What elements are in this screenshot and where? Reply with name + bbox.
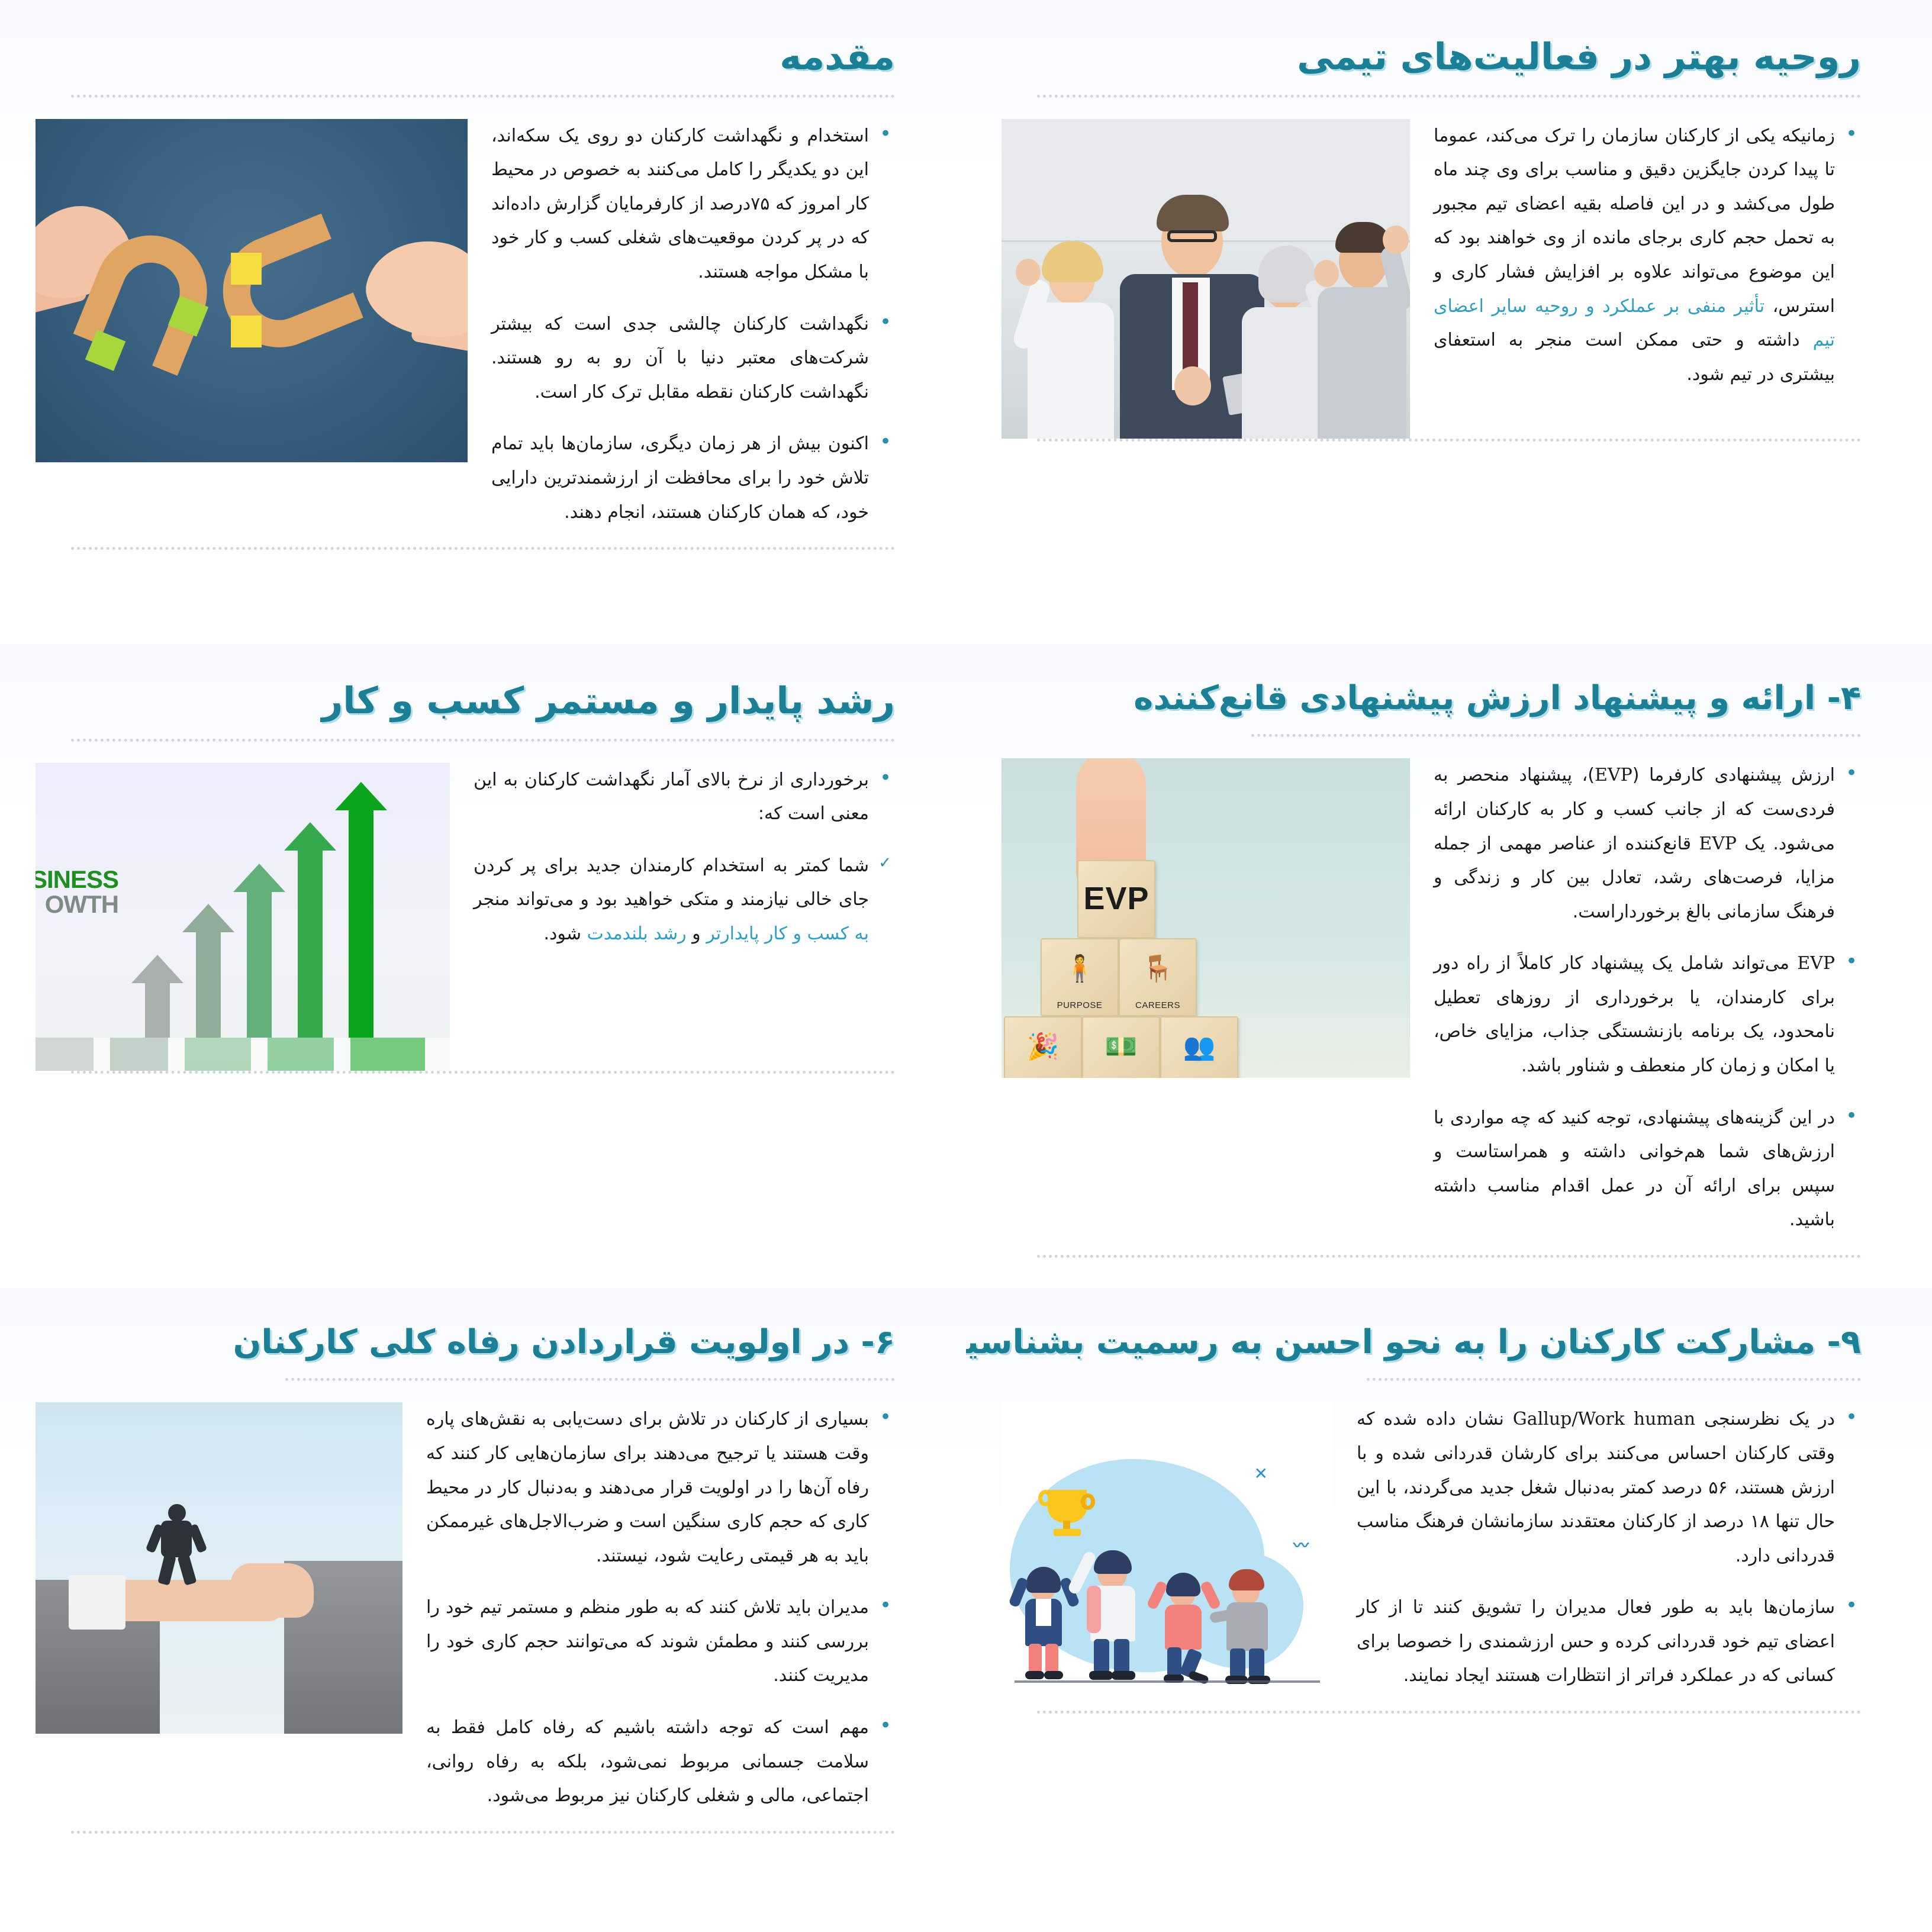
shirt-cuff [69, 1575, 125, 1630]
block-label: EVP [1078, 883, 1154, 915]
arrow-4 [284, 829, 336, 1038]
people-hands-icon: 👥 [1161, 1034, 1237, 1060]
growth-caption-line2: OWTH [36, 892, 118, 917]
helping-hand [231, 1563, 314, 1618]
slide-body: در یک نظرسنجی Gallup/Work human نشان داد… [966, 1381, 1932, 1711]
footer-divider [71, 1831, 895, 1834]
arrow-1 [131, 962, 183, 1038]
list-item: سازمان‌ها باید به طور فعال مدیران را تشو… [1357, 1590, 1861, 1693]
bullet-highlight: رشد بلندمدت [587, 923, 687, 944]
people-celebrating-icon: 🎉 [1005, 1034, 1081, 1060]
bullet-highlight: به کسب و کار پایدارتر [706, 923, 869, 944]
slide-title: ۴- ارائه و پیشنهاد ارزش پیشنهادی قانع‌کن… [1037, 678, 1861, 719]
list-item: اکنون بیش از هر زمان دیگری، سازمان‌ها با… [491, 427, 895, 529]
slide-title-block: ۹- مشارکت کارکنان را به نحو احسن به رسمی… [966, 1288, 1932, 1381]
survey-source-label: Gallup/Work human [1513, 1409, 1695, 1429]
list-item: مدیران باید تلاش کنند که به طور منظم و م… [426, 1590, 895, 1693]
slide-title-block: روحیه بهتر در فعالیت‌های تیمی [966, 0, 1932, 98]
bullet-text-part: و [687, 923, 707, 944]
business-growth-arrows-graphic: SINESS OWTH [36, 763, 450, 1071]
bullet-text-part: ارزش پیشنهادی کارفرما ( [1632, 765, 1835, 785]
hand-bridge-businessman-photo [36, 1402, 402, 1734]
bullet-text-part: زمانیکه یکی از کارکنان سازمان را ترک می‌… [1434, 125, 1835, 317]
x-decoration-icon: ✕ [1254, 1464, 1268, 1483]
block-benefits: 👥 BENEFITS [1160, 1016, 1238, 1078]
trophy-icon [1037, 1485, 1096, 1541]
list-item: برخورداری از نرخ بالای آمار نگهداشت کارک… [474, 763, 895, 831]
arrow-5 [335, 789, 387, 1038]
list-item: بسیاری از کارکنان در تلاش برای دست‌یابی … [426, 1402, 895, 1573]
slide-body: بسیاری از کارکنان در تلاش برای دست‌یابی … [0, 1381, 966, 1831]
slide-title-block: رشد پایدار و مستمر کسب و کار [0, 644, 966, 742]
bullet-text-part: شما کمتر به استخدام کارمندان جدید برای پ… [474, 855, 869, 910]
bullet-list: برخورداری از نرخ بالای آمار نگهداشت کارک… [474, 763, 895, 969]
block-purpose: 🧍 PURPOSE [1041, 938, 1119, 1016]
block-compensation: 💵 COMPENSATION [1082, 1016, 1160, 1078]
slide-growth: رشد پایدار و مستمر کسب و کار برخورداری ا… [0, 644, 966, 1288]
bullet-text-part: در این گزینه‌های پیشنهادی، توجه کنید که … [1434, 1107, 1835, 1231]
bullet-list: در یک نظرسنجی Gallup/Work human نشان داد… [1357, 1402, 1861, 1711]
slide-deck: روحیه بهتر در فعالیت‌های تیمی زمانیکه یک… [0, 0, 1932, 1932]
businessman-walking [147, 1504, 212, 1583]
slide-title: روحیه بهتر در فعالیت‌های تیمی [1037, 34, 1861, 79]
slide-evp: ۴- ارائه و پیشنهاد ارزش پیشنهادی قانع‌کن… [966, 644, 1932, 1288]
person-4 [1218, 1566, 1277, 1684]
slide-title: مقدمه [71, 34, 895, 79]
growth-caption-line1: SINESS [36, 867, 118, 893]
list-item: در این گزینه‌های پیشنهادی، توجه کنید که … [1434, 1101, 1861, 1237]
block-wellbeing: 🎉 WELL-BEING [1004, 1016, 1082, 1078]
zigzag-decoration-icon: 〰 [1293, 1534, 1307, 1556]
money-icon: 💵 [1083, 1034, 1159, 1060]
footer-divider [1037, 439, 1861, 442]
list-item: ارزش پیشنهادی کارفرما (EVP)، پیشنهاد منح… [1434, 758, 1861, 929]
slide-morale-teamwork: روحیه بهتر در فعالیت‌های تیمی زمانیکه یک… [966, 0, 1932, 644]
slide-moghaddame: مقدمه استخدام و نگهداشت کارکنان دو روی ی… [0, 0, 966, 644]
celebrating-team-trophy-illustration: ✕ 〰 [1002, 1402, 1333, 1698]
footer-divider [71, 547, 895, 550]
evp-acronym: EVP [1797, 953, 1835, 974]
slide-title-block: ۶- در اولویت قراردادن رفاه کلی کارکنان [0, 1288, 966, 1381]
arrow-3 [233, 871, 285, 1038]
slide-body: برخورداری از نرخ بالای آمار نگهداشت کارک… [0, 742, 966, 1071]
wooden-magnet-yellow-tips [228, 227, 341, 351]
list-item: در یک نظرسنجی Gallup/Work human نشان داد… [1357, 1402, 1861, 1573]
slide-recognition: ۹- مشارکت کارکنان را به نحو احسن به رسمی… [966, 1288, 1932, 1932]
list-item: مهم است که توجه داشته باشیم که رفاه کامل… [426, 1711, 895, 1813]
bullet-text-part: می‌تواند شامل یک پیشنهاد کار کاملاً از ر… [1434, 953, 1835, 1076]
list-item: زمانیکه یکی از کارکنان سازمان را ترک می‌… [1434, 119, 1861, 392]
block-evp: EVP [1077, 860, 1155, 938]
bullet-list: بسیاری از کارکنان در تلاش برای دست‌یابی … [426, 1402, 895, 1831]
slide-wellbeing: ۶- در اولویت قراردادن رفاه کلی کارکنان ب… [0, 1288, 966, 1932]
slide-title: رشد پایدار و مستمر کسب و کار [71, 678, 895, 723]
bullet-text-part: مهم است که توجه داشته باشیم که رفاه کامل… [426, 1717, 869, 1806]
growth-caption: SINESS OWTH [36, 867, 118, 918]
bullet-text-part: شود. [544, 923, 587, 944]
slide-body: ارزش پیشنهادی کارفرما (EVP)، پیشنهاد منح… [966, 737, 1932, 1255]
person-1 [1016, 1564, 1073, 1682]
bullet-text-part: نگهداشت کارکنان چالشی جدی است که بیشتر ش… [491, 314, 869, 402]
footer-divider [71, 1071, 895, 1074]
bullet-text-part: داشته و حتی ممکن است منجر به استعفای بیش… [1434, 330, 1835, 385]
person-2 [1081, 1547, 1146, 1682]
slide-body: استخدام و نگهداشت کارکنان دو روی یک سکه‌… [0, 98, 966, 548]
bullet-list: زمانیکه یکی از کارکنان سازمان را ترک می‌… [1434, 119, 1861, 410]
slide-title-block: مقدمه [0, 0, 966, 98]
evp-acronym: EVP [1595, 765, 1632, 785]
bullet-text-part: برخورداری از نرخ بالای آمار نگهداشت کارک… [474, 769, 869, 825]
two-hands-holding-magnets-photo [36, 119, 468, 462]
slide-title: ۶- در اولویت قراردادن رفاه کلی کارکنان [71, 1322, 895, 1363]
bullet-text-part: بسیاری از کارکنان در تلاش برای دست‌یابی … [426, 1409, 869, 1566]
bullet-list: استخدام و نگهداشت کارکنان دو روی یک سکه‌… [491, 119, 895, 548]
wooden-magnet-green-tips [92, 235, 205, 359]
list-item: نگهداشت کارکنان چالشی جدی است که بیشتر ش… [491, 307, 895, 410]
bullet-list: ارزش پیشنهادی کارفرما (EVP)، پیشنهاد منح… [1434, 758, 1861, 1255]
person-flag-icon: 🧍 [1042, 956, 1118, 982]
list-item: EVP می‌تواند شامل یک پیشنهاد کار کاملاً … [1434, 946, 1861, 1083]
bullet-text-part: استخدام و نگهداشت کارکنان دو روی یک سکه‌… [491, 125, 869, 282]
cheering-office-team-photo [1002, 119, 1410, 439]
bullet-text-part: سازمان‌ها باید به طور فعال مدیران را تشو… [1357, 1597, 1835, 1686]
block-label: PURPOSE [1042, 1000, 1118, 1010]
block-careers: 🪑 CAREERS [1119, 938, 1197, 1016]
bullet-text-part: نشان داده شده که وقتی کارکنان احساس می‌ک… [1357, 1409, 1835, 1566]
footer-divider [1037, 1255, 1861, 1258]
office-chair-icon: 🪑 [1120, 956, 1196, 982]
slide-title: ۹- مشارکت کارکنان را به نحو احسن به رسمی… [1037, 1322, 1861, 1363]
person-3 [1154, 1569, 1213, 1683]
arrow-2 [182, 911, 234, 1038]
slide-title-block: ۴- ارائه و پیشنهاد ارزش پیشنهادی قانع‌کن… [966, 644, 1932, 737]
slide-body: زمانیکه یکی از کارکنان سازمان را ترک می‌… [966, 98, 1932, 439]
evp-wooden-blocks-photo: EVP 🧍 PURPOSE 🪑 CAREERS 🎉 WELL-BEING [1002, 758, 1410, 1078]
bullet-text-part: در یک نظرسنجی [1695, 1409, 1835, 1429]
bullet-text-part: اکنون بیش از هر زمان دیگری، سازمان‌ها با… [491, 433, 869, 522]
bullet-text-part: مدیران باید تلاش کنند که به طور منظم و م… [426, 1597, 869, 1686]
footer-divider [1037, 1711, 1861, 1714]
list-item: شما کمتر به استخدام کارمندان جدید برای پ… [474, 849, 895, 951]
list-item: استخدام و نگهداشت کارکنان دو روی یک سکه‌… [491, 119, 895, 289]
evp-acronym: EVP [1699, 833, 1737, 854]
block-label: CAREERS [1120, 1000, 1196, 1010]
